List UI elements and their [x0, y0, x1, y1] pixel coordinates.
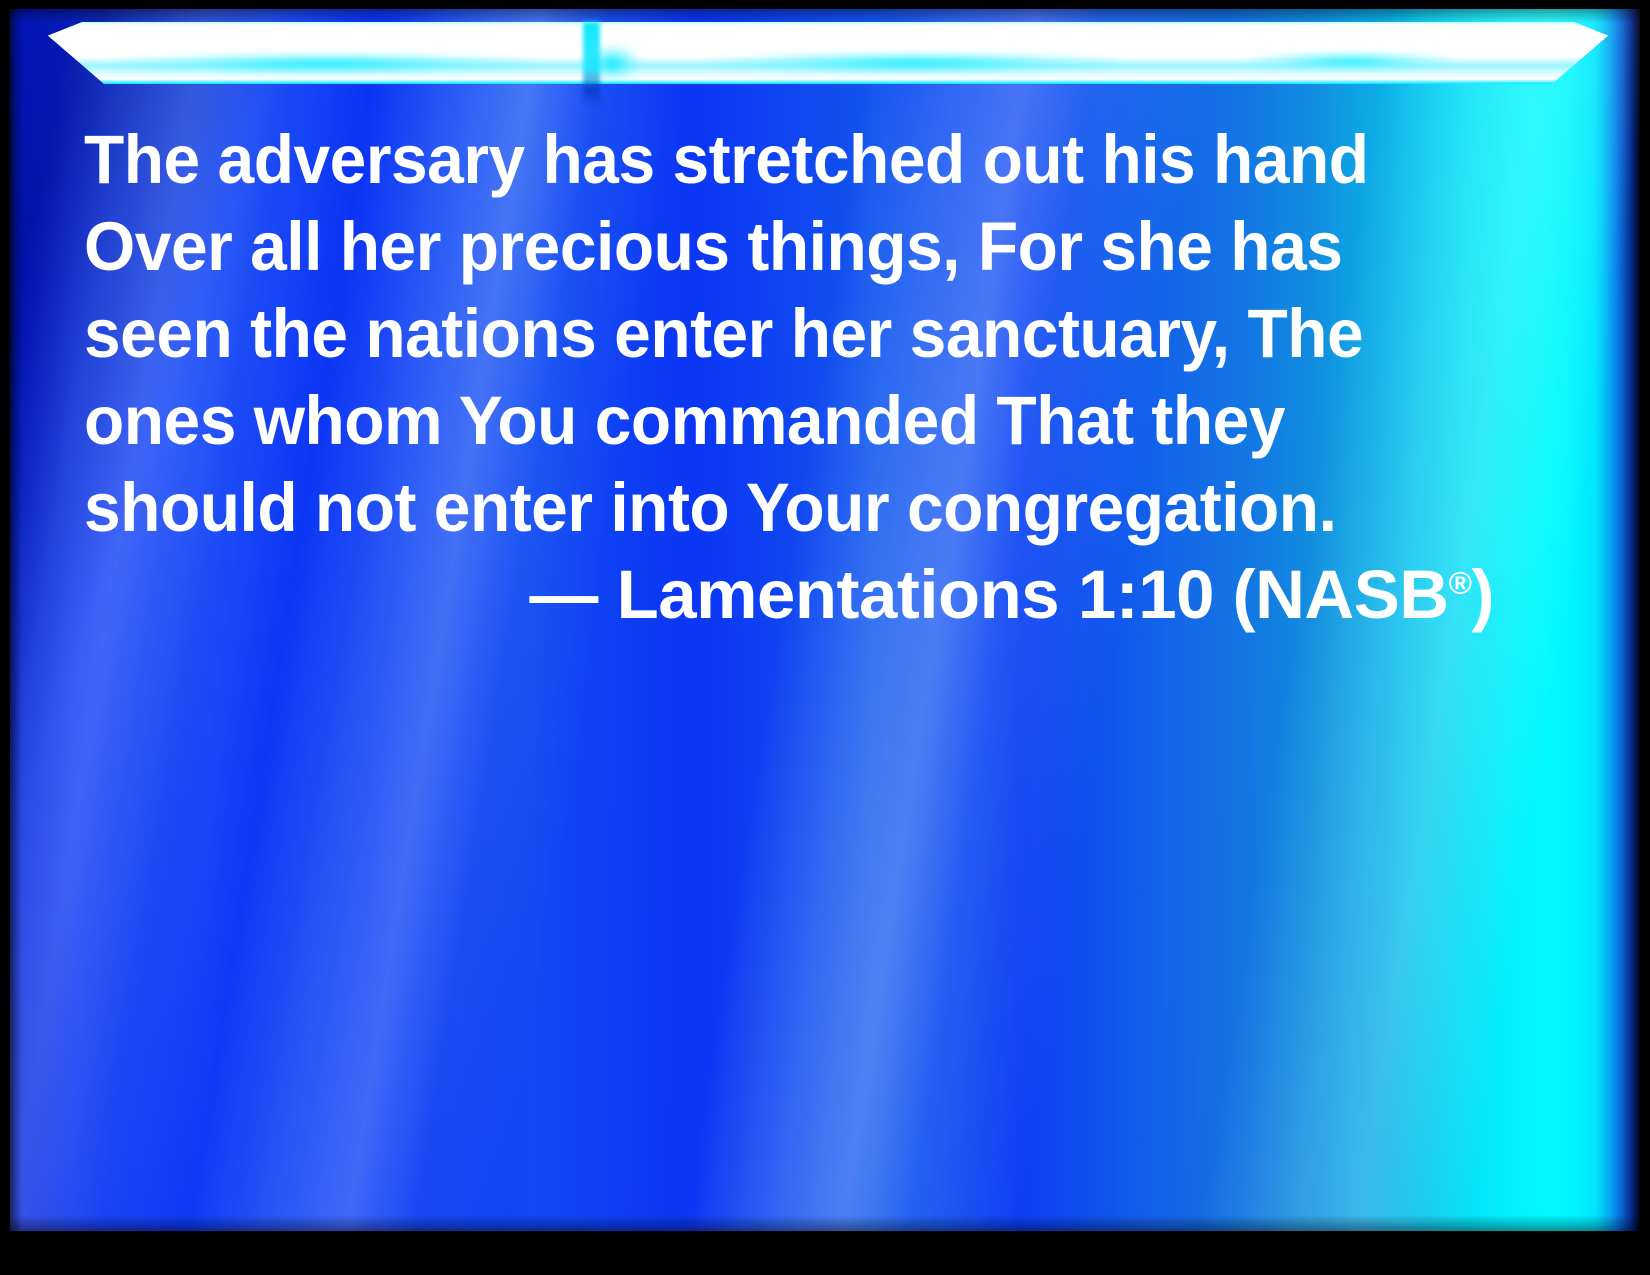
verse-line-1: The adversary has stretched out his hand: [84, 116, 1425, 203]
verse-line-3: seen the nations enter her sanctuary, Th…: [84, 290, 1425, 377]
bible-verse-slide: The adversary has stretched out his hand…: [0, 0, 1650, 1275]
top-glow-banner: [48, 22, 1608, 84]
verse-text-block: The adversary has stretched out his hand…: [84, 116, 1488, 551]
verse-line-2: Over all her precious things, For she ha…: [84, 203, 1425, 290]
banner-cyan-blob-left: [114, 54, 535, 73]
banner-center-seam: [583, 22, 600, 106]
verse-attribution: — Lamentations 1:10 (NASB®): [84, 551, 1494, 638]
verse-line-5: should not enter into Your congregation.: [84, 464, 1425, 551]
attribution-dash: —: [529, 556, 598, 633]
registered-trademark-icon: ®: [1449, 565, 1472, 601]
attribution-translation-close: ): [1472, 556, 1494, 633]
banner-cyan-blob-right: [1249, 53, 1452, 69]
banner-cyan-blob-mid: [711, 53, 1117, 72]
attribution-reference: 1:10: [1078, 556, 1214, 633]
attribution-translation-open: (NASB: [1233, 556, 1449, 633]
verse-line-4: ones whom You commanded That they: [84, 377, 1425, 464]
attribution-book: Lamentations: [617, 556, 1060, 633]
